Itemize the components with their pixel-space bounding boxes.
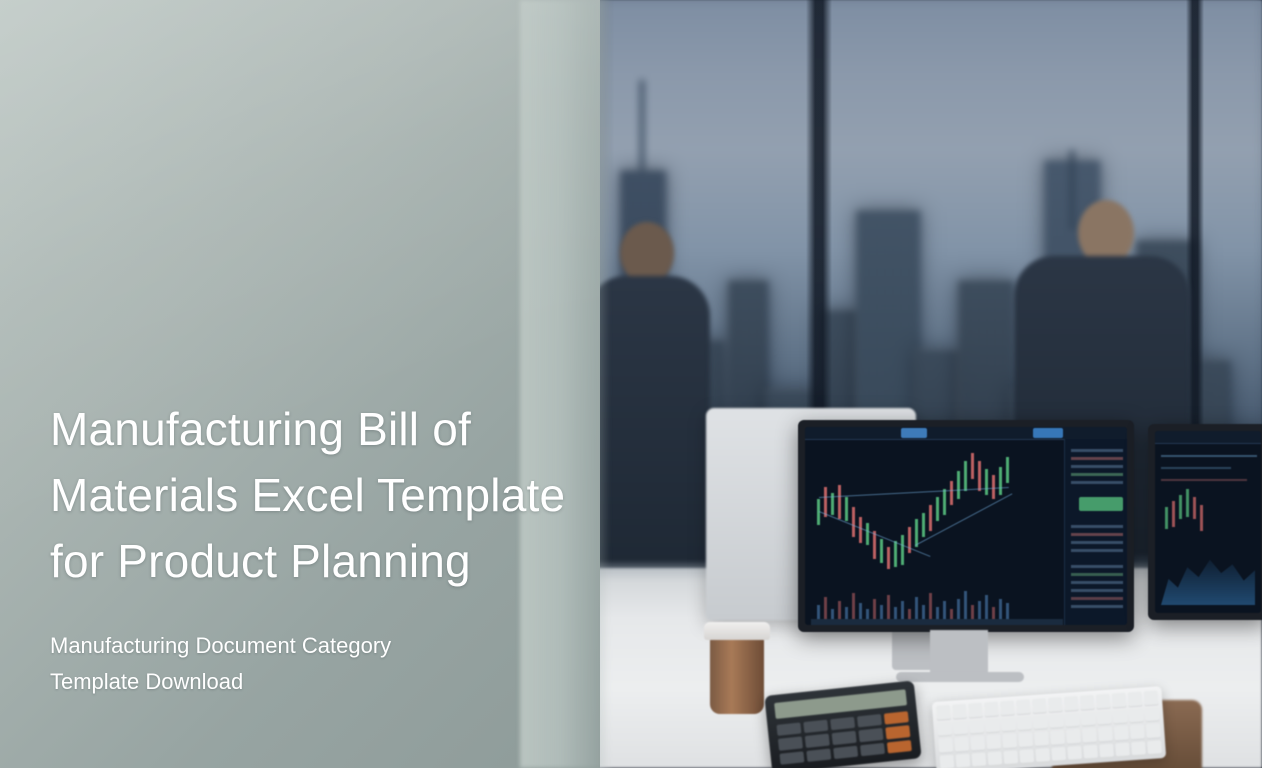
trading-monitor-base (896, 672, 1024, 682)
subtitle-line-1: Manufacturing Document Category (50, 633, 391, 658)
calculator (764, 680, 921, 768)
trading-monitor (798, 420, 1134, 632)
secondary-screen (1155, 431, 1261, 613)
subtitle-line-2: Template Download (50, 664, 570, 700)
coffee-cup (710, 636, 764, 714)
presentation-slide: Manufacturing Bill of Materials Excel Te… (0, 0, 1262, 768)
screen-side-panel (1064, 439, 1127, 625)
trading-monitor-stand (930, 630, 988, 676)
title-block: Manufacturing Bill of Materials Excel Te… (50, 396, 570, 700)
trading-screen (805, 427, 1127, 625)
secondary-monitor (1148, 424, 1262, 620)
secondary-screen-toolbar (1155, 431, 1261, 444)
subtitle-block: Manufacturing Document Category Template… (50, 628, 570, 700)
page-title: Manufacturing Bill of Materials Excel Te… (50, 396, 570, 594)
coffee-cup-lid (704, 622, 770, 640)
calculator-keys (776, 711, 911, 765)
